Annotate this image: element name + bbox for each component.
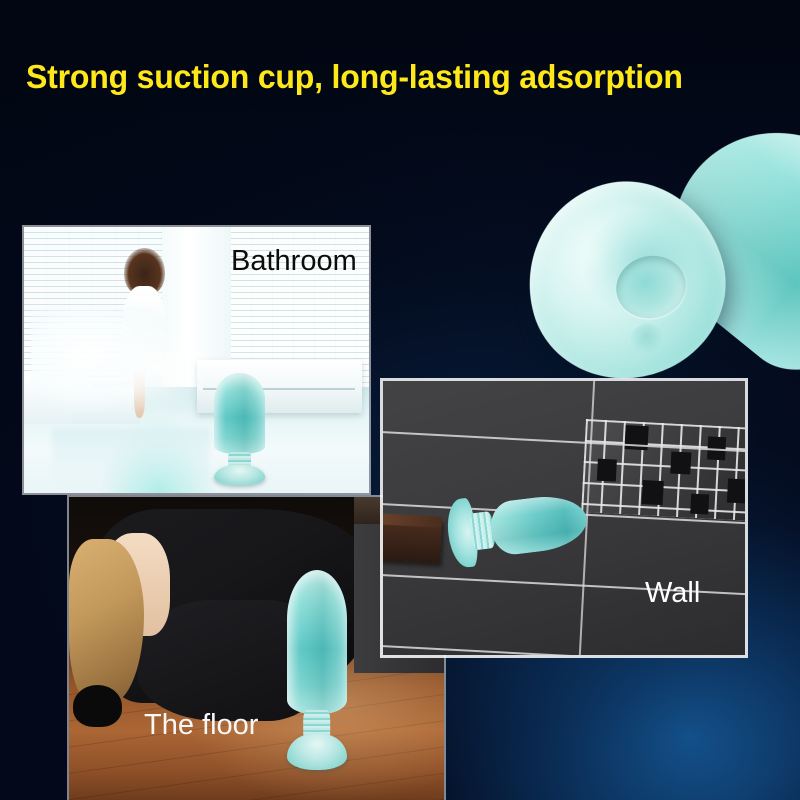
scene-label-bathroom: Bathroom bbox=[231, 245, 357, 278]
wall-mosaic-band bbox=[581, 419, 745, 522]
product-body bbox=[287, 570, 347, 714]
mosaic-tile bbox=[597, 459, 616, 482]
mosaic-tile bbox=[726, 479, 745, 504]
scene-panel-wall bbox=[383, 381, 745, 655]
floor-person-shoe bbox=[73, 685, 122, 727]
page-title: Strong suction cup, long-lasting adsorpt… bbox=[26, 58, 683, 96]
floor-person-hair bbox=[69, 539, 144, 703]
mosaic-tile bbox=[670, 452, 691, 475]
scene-label-floor: The floor bbox=[144, 709, 258, 742]
product-on-floor bbox=[287, 570, 347, 770]
product-body bbox=[488, 491, 590, 556]
product-body bbox=[214, 373, 266, 453]
wall-photo bbox=[383, 381, 745, 655]
bathroom-veil-fabric-2 bbox=[100, 323, 204, 413]
product-suction-cup bbox=[287, 734, 347, 770]
mosaic-tile bbox=[689, 494, 708, 515]
product-suction-cup bbox=[214, 465, 266, 485]
mosaic-tile bbox=[641, 480, 664, 505]
product-in-bathroom bbox=[214, 373, 266, 485]
bathroom-floor-reflection bbox=[52, 429, 211, 488]
promo-banner: Strong suction cup, long-lasting adsorpt… bbox=[0, 0, 800, 800]
scene-label-wall: Wall bbox=[645, 577, 700, 610]
hero-product-image bbox=[520, 128, 800, 398]
